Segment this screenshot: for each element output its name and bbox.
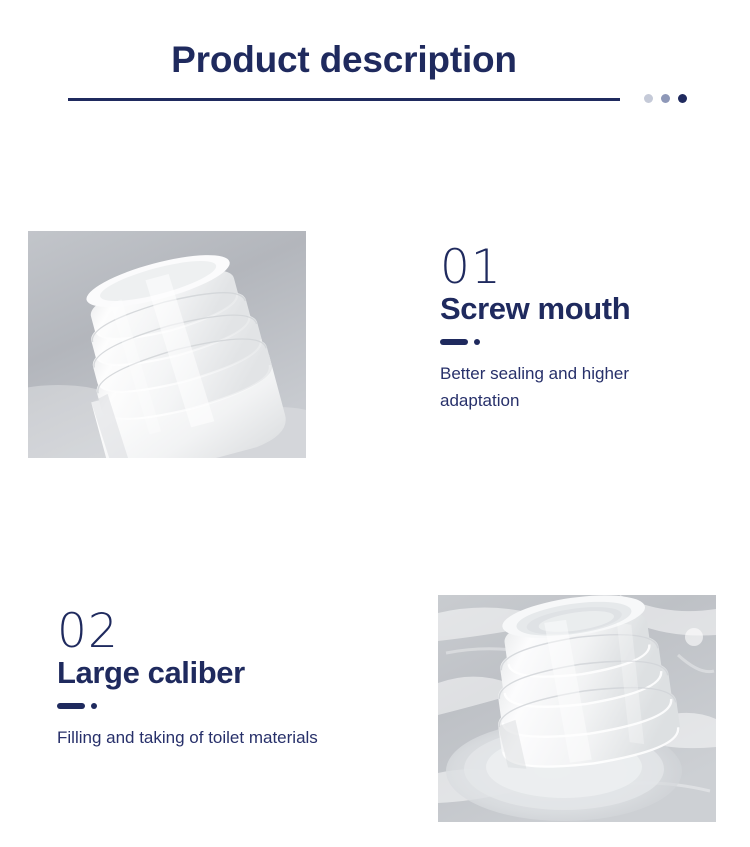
pager-dots[interactable] <box>644 94 687 103</box>
feature-text-01: 01 Screw mouth Better sealing and higher… <box>440 245 730 415</box>
feature-block-02: 02 Large caliber Filling and taking of t… <box>0 595 750 835</box>
large-caliber-illustration <box>438 595 716 822</box>
divider-dot-icon <box>474 339 480 345</box>
divider-dot-icon <box>91 703 97 709</box>
pager-dot-3[interactable] <box>678 94 687 103</box>
page-header: Product description <box>0 0 750 130</box>
screw-mouth-photo <box>28 231 306 458</box>
feature-description-01: Better sealing and higher adaptation <box>440 360 712 415</box>
feature-block-01: 01 Screw mouth Better sealing and higher… <box>0 231 750 471</box>
pager-dot-1[interactable] <box>644 94 653 103</box>
feature-number-02: 02 <box>57 609 347 655</box>
feature-text-02: 02 Large caliber Filling and taking of t… <box>57 609 347 751</box>
feature-heading-01: Screw mouth <box>440 292 730 325</box>
feature-divider-02 <box>57 703 347 709</box>
header-divider-rule <box>68 98 620 101</box>
screw-mouth-illustration <box>28 231 306 458</box>
divider-dash-icon <box>440 339 468 345</box>
feature-heading-02: Large caliber <box>57 656 347 689</box>
page-title: Product description <box>68 40 620 81</box>
pager-dot-2[interactable] <box>661 94 670 103</box>
feature-number-01: 01 <box>440 245 730 291</box>
feature-description-02: Filling and taking of toilet materials <box>57 724 329 752</box>
divider-dash-icon <box>57 703 85 709</box>
large-caliber-photo <box>438 595 716 822</box>
feature-divider-01 <box>440 339 730 345</box>
